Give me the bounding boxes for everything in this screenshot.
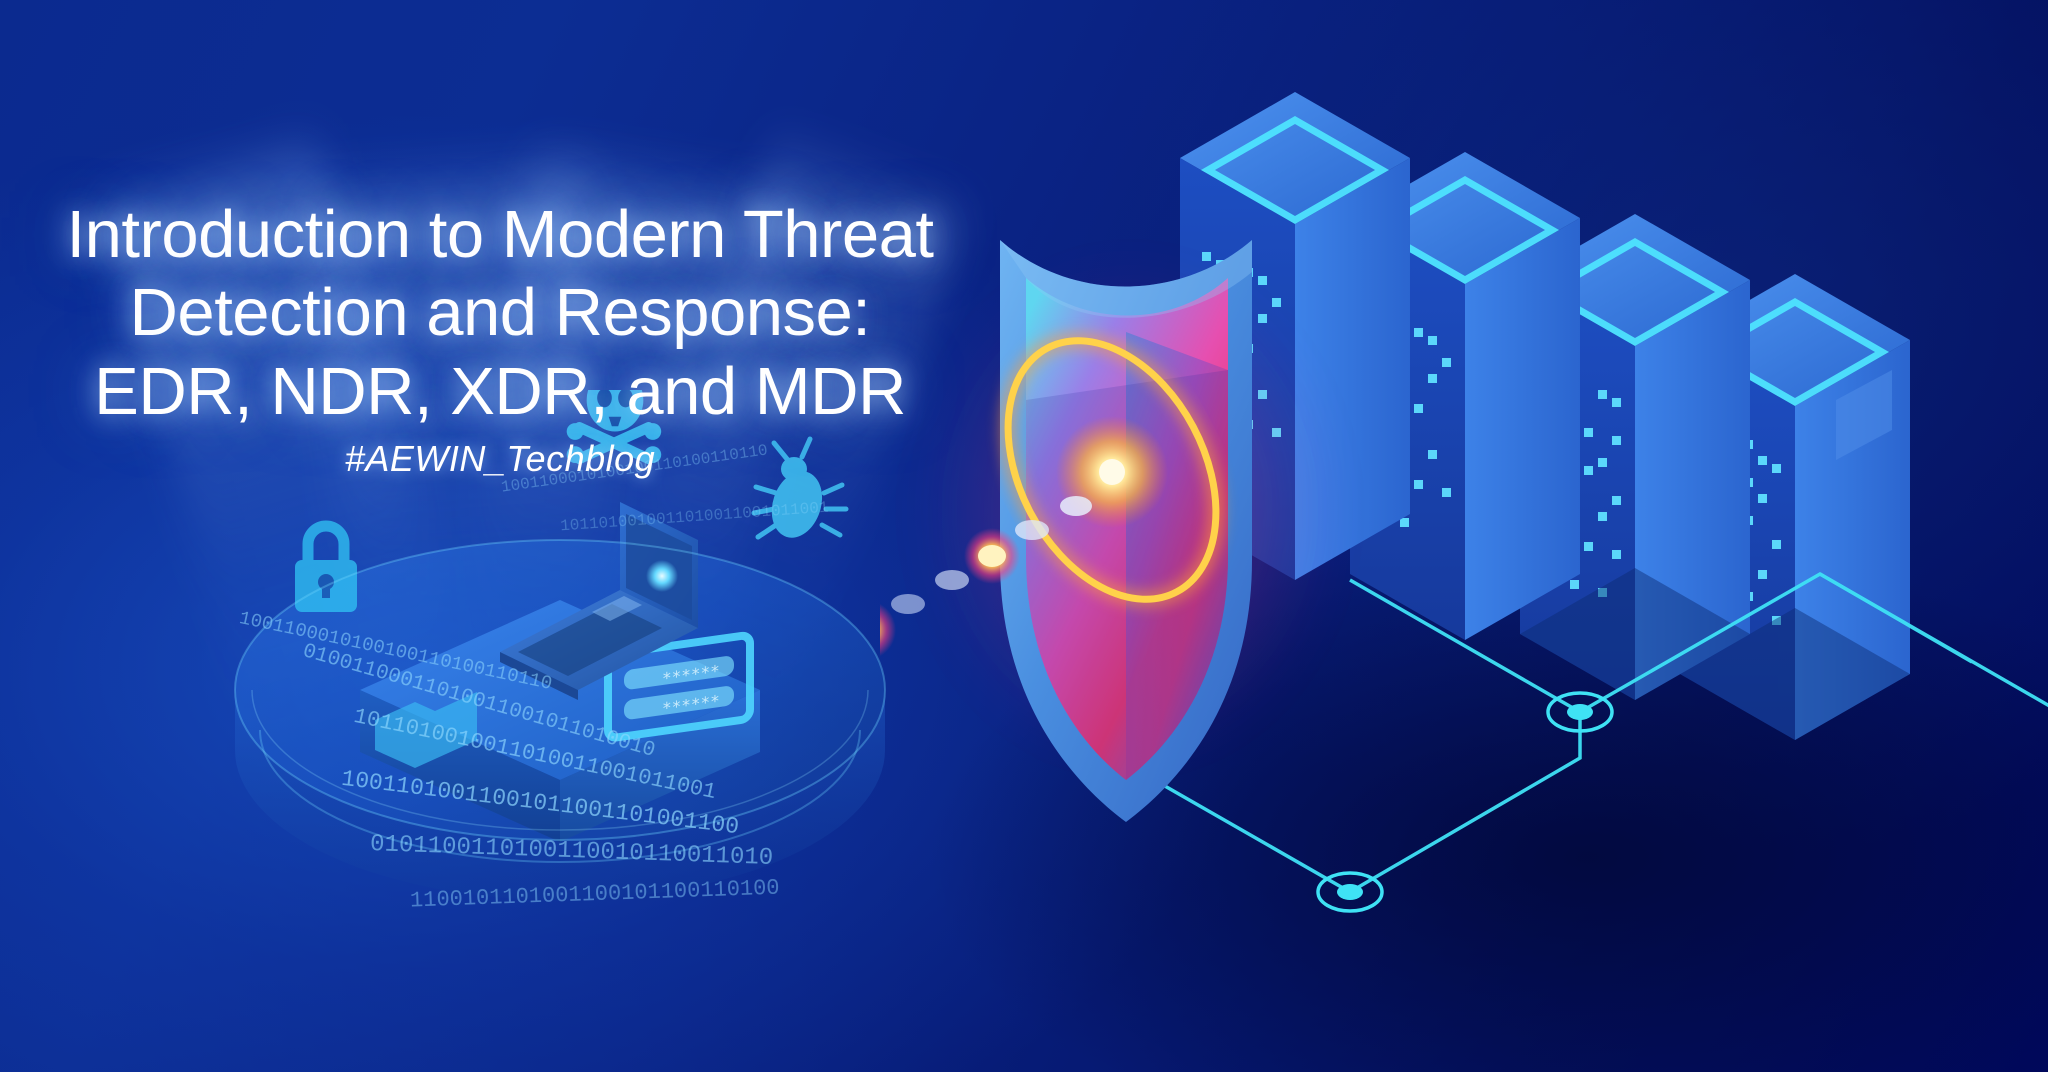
headline-line-1: Introduction to Modern Threat	[0, 196, 1000, 274]
laptop-screen-glow	[646, 560, 678, 592]
banner-root: ∗∗∗∗∗∗ ∗∗∗∗∗∗	[0, 0, 2048, 1072]
headline-line-3: EDR, NDR, XDR, and MDR	[0, 353, 1000, 431]
padlock-icon	[295, 526, 357, 612]
energy-core-dot	[1099, 459, 1125, 485]
circuit-node-3	[1318, 873, 1382, 911]
hashtag-label: #AEWIN_Techblog	[0, 438, 1000, 480]
page-title: Introduction to Modern Threat Detection …	[0, 196, 1000, 431]
headline-line-2: Detection and Response:	[0, 274, 1000, 352]
server-room-with-shield	[880, 40, 2048, 1050]
